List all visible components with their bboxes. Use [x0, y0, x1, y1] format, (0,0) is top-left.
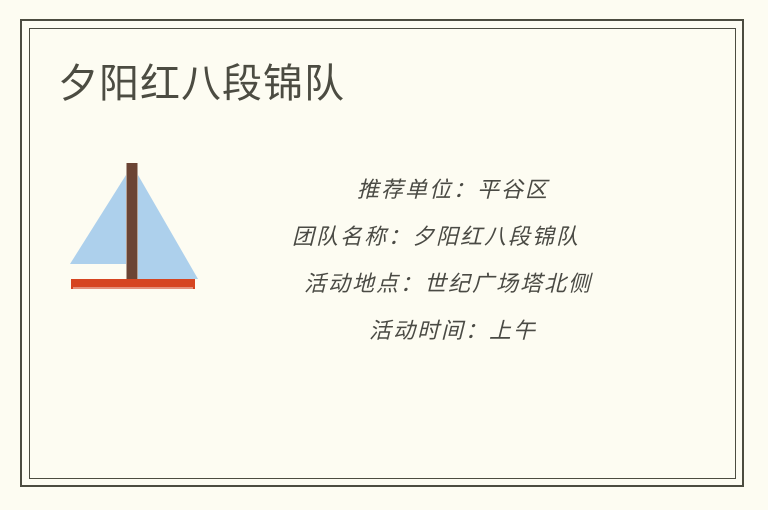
info-line-recommending-unit: 推荐单位：平谷区 [226, 166, 646, 213]
info-line-activity-time: 活动时间：上午 [226, 307, 646, 354]
poster-card: 夕阳红八段锦队 推荐单位：平谷区 团队名称：夕阳红八段锦队 活动地点：世纪广场塔… [0, 0, 768, 510]
page-title: 夕阳红八段锦队 [58, 61, 345, 107]
info-line-team-name: 团队名称：夕阳红八段锦队 [226, 213, 646, 260]
info-line-activity-location: 活动地点：世纪广场塔北侧 [226, 260, 646, 307]
sailboat-icon [66, 157, 200, 289]
info-block: 推荐单位：平谷区 团队名称：夕阳红八段锦队 活动地点：世纪广场塔北侧 活动时间：… [226, 166, 646, 354]
